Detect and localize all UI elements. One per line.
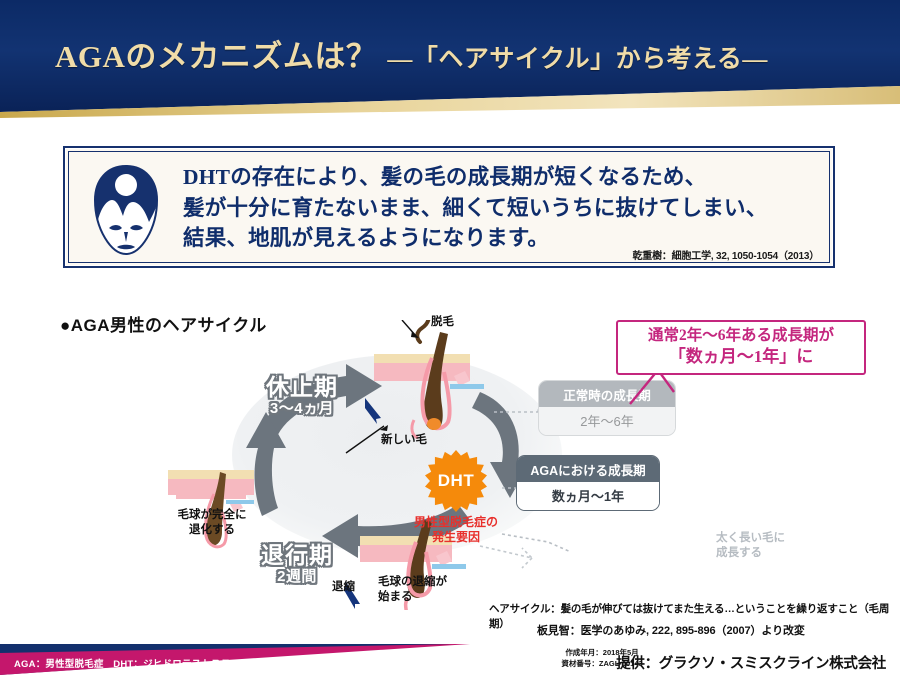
highlight-callout: 通常2年～6年ある成長期が 「数ヵ月～1年」に	[616, 320, 866, 375]
phase-telogen-name: 休止期	[242, 375, 362, 399]
page-title: AGAのメカニズムは？―「ヘアサイクル」から考える―	[55, 31, 855, 76]
highlight-callout-line-2: 「数ヵ月～1年」に	[624, 347, 858, 367]
highlight-callout-line-1: 通常2年～6年ある成長期が	[624, 327, 858, 346]
summary-line-2: 髪が十分に育たないまま、細くて短いうちに抜けてしまい、	[183, 193, 811, 224]
label-regression: 退縮	[332, 580, 355, 595]
arrow-up-new-hair	[365, 398, 381, 424]
dht-marker: DHT 男性型脱毛症の 発生要因	[410, 450, 502, 545]
phase-catagen-name: 退行期	[237, 543, 357, 567]
summary-citation: 乾重樹：細胞工学, 32, 1050-1054（2013）	[632, 247, 819, 262]
slide-footer: AGA：男性型脱毛症 DHT：ジヒドロテストステロン 作成年月：2018年5月 …	[0, 644, 900, 675]
summary-line-1: DHTの存在により、髪の毛の成長期が短くなるため、	[183, 162, 811, 193]
follicle-new-hair	[374, 332, 484, 438]
cycle-graphics	[150, 320, 570, 610]
label-grows-thick-long-l1: 太く長い毛に	[716, 531, 785, 546]
summary-text: DHTの存在により、髪の毛の成長期が短くなるため、 髪が十分に育たないまま、細く…	[183, 162, 811, 254]
dht-caption: 男性型脱毛症の 発生要因	[410, 515, 502, 545]
footer-provider: 提供：グラクソ・スミスクライン株式会社	[616, 652, 886, 673]
info-box-aga-value: 数ヵ月～1年	[517, 482, 659, 510]
label-bulb-regression-begins: 毛球の退縮が 始まる	[378, 575, 447, 604]
page-title-sub: ―「ヘアサイクル」から考える―	[387, 46, 768, 73]
label-new-hair: 新しい毛	[381, 433, 427, 448]
phase-label-catagen: 退行期 2週間	[237, 543, 357, 585]
page-title-main: AGAのメカニズムは？	[55, 39, 377, 74]
dotted-arrow	[480, 546, 532, 568]
dht-starburst-icon: DHT	[425, 450, 487, 512]
info-box-aga-anagen: AGAにおける成長期 数ヵ月～1年	[516, 455, 660, 511]
balding-head-icon	[87, 164, 165, 256]
info-box-aga-title: AGAにおける成長期	[517, 456, 659, 482]
dht-caption-l2: 発生要因	[410, 530, 502, 545]
dht-caption-l1: 男性型脱毛症の	[410, 515, 502, 530]
phase-telogen-duration: 3～4ヵ月	[242, 401, 362, 417]
phase-label-telogen: 休止期 3～4ヵ月	[242, 375, 362, 417]
footer-abbreviations: AGA：男性型脱毛症 DHT：ジヒドロテストステロン	[14, 656, 250, 670]
label-bulb-fully-degraded-l1: 毛球が完全に	[168, 508, 256, 523]
leader-new-hair	[346, 426, 384, 453]
label-grows-thick-long-l2: 成長する	[716, 546, 785, 561]
label-bulb-regression-begins-l2: 始まる	[378, 590, 447, 605]
label-bulb-fully-degraded-l2: 退化する	[168, 523, 256, 538]
label-bulb-regression-begins-l1: 毛球の退縮が	[378, 575, 447, 590]
slide-header: AGAのメカニズムは？―「ヘアサイクル」から考える―	[0, 0, 900, 118]
callout-pointer	[600, 370, 720, 420]
dht-badge-label: DHT	[438, 471, 474, 491]
label-grows-thick-long: 太く長い毛に 成長する	[716, 531, 785, 560]
slide-root: AGAのメカニズムは？―「ヘアサイクル」から考える― DHTの存在により、髪の毛…	[0, 0, 900, 675]
label-hair-shedding: 脱毛	[431, 315, 454, 330]
summary-callout-box: DHTの存在により、髪の毛の成長期が短くなるため、 髪が十分に育たないまま、細く…	[63, 146, 835, 268]
label-bulb-fully-degraded: 毛球が完全に 退化する	[168, 508, 256, 537]
footnote-source-citation: 板見智：医学のあゆみ, 222, 895-896（2007）より改変	[537, 622, 805, 638]
shed-hair	[417, 320, 429, 342]
